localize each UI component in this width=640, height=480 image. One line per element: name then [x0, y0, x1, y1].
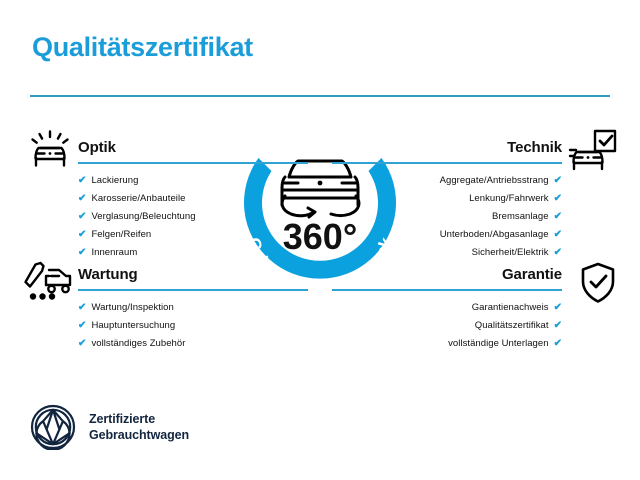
checklist-item: Bremsanlage✔: [332, 208, 562, 226]
car-checkbox-icon: [566, 128, 618, 174]
check-icon: ✔: [554, 247, 562, 258]
checklist-item-label: Lackierung: [91, 175, 138, 186]
checklist-item-label: Karosserie/Anbauteile: [91, 193, 185, 204]
check-icon: ✔: [78, 175, 86, 186]
checklist-item-label: Hauptuntersuchung: [91, 320, 175, 331]
check-icon: ✔: [78, 302, 86, 313]
checklist-item-label: Innenraum: [91, 247, 137, 258]
checklist-item: ✔Verglasung/Beleuchtung: [78, 208, 308, 226]
section-heading-garantie: Garantie: [332, 267, 562, 284]
section-heading-wartung: Wartung: [78, 267, 308, 284]
title-divider: [30, 95, 610, 97]
checklist-optik: ✔Lackierung✔Karosserie/Anbauteile✔Vergla…: [78, 172, 308, 262]
section-divider-wartung: [78, 289, 308, 291]
checklist-item-label: Verglasung/Beleuchtung: [91, 211, 195, 222]
checklist-item: ✔Felgen/Reifen: [78, 226, 308, 244]
checklist-item: vollständige Unterlagen✔: [332, 335, 562, 353]
checklist-item-label: Bremsanlage: [492, 211, 549, 222]
checklist-garantie: Garantienachweis✔Qualitätszertifikat✔vol…: [332, 299, 562, 353]
checklist-item: ✔Lackierung: [78, 172, 308, 190]
checklist-item-label: Wartung/Inspektion: [91, 302, 173, 313]
check-icon: ✔: [554, 320, 562, 331]
section-wartung: Wartung ✔Wartung/Inspektion✔Hauptuntersu…: [78, 267, 308, 353]
section-heading-technik: Technik: [332, 140, 562, 157]
checklist-item-label: vollständiges Zubehör: [91, 338, 185, 349]
checklist-wartung: ✔Wartung/Inspektion✔Hauptuntersuchung✔vo…: [78, 299, 308, 353]
footer-line-2: Gebrauchtwagen: [89, 427, 189, 443]
footer-line-1: Zertifizierte: [89, 411, 189, 427]
section-optik: Optik ✔Lackierung✔Karosserie/Anbauteile✔…: [78, 140, 308, 262]
check-icon: ✔: [78, 229, 86, 240]
checklist-item-label: Lenkung/Fahrwerk: [469, 193, 548, 204]
checklist-item-label: Sicherheit/Elektrik: [472, 247, 549, 258]
check-icon: ✔: [554, 175, 562, 186]
checklist-item-label: Garantienachweis: [472, 302, 549, 313]
checklist-item: Lenkung/Fahrwerk✔: [332, 190, 562, 208]
checklist-item: Sicherheit/Elektrik✔: [332, 244, 562, 262]
check-icon: ✔: [554, 211, 562, 222]
section-divider-optik: [78, 162, 308, 164]
check-icon: ✔: [78, 247, 86, 258]
check-icon: ✔: [78, 320, 86, 331]
shield-check-icon: [572, 260, 624, 306]
checklist-item-label: Qualitätszertifikat: [475, 320, 549, 331]
check-icon: ✔: [554, 302, 562, 313]
check-icon: ✔: [554, 338, 562, 349]
car-wash-icon: [24, 128, 76, 174]
section-garantie: Garantie Garantienachweis✔Qualitätszerti…: [332, 267, 562, 353]
footer-brand: Zertifizierte Gebrauchtwagen: [30, 404, 189, 450]
checklist-item-label: Felgen/Reifen: [91, 229, 151, 240]
checklist-item-label: Unterboden/Abgasanlage: [440, 229, 549, 240]
footer-brand-text: Zertifizierte Gebrauchtwagen: [89, 411, 189, 443]
checklist-item: Unterboden/Abgasanlage✔: [332, 226, 562, 244]
check-icon: ✔: [554, 193, 562, 204]
section-divider-technik: [332, 162, 562, 164]
checklist-item-label: vollständige Unterlagen: [448, 338, 548, 349]
check-icon: ✔: [78, 211, 86, 222]
section-divider-garantie: [332, 289, 562, 291]
checklist-item: Qualitätszertifikat✔: [332, 317, 562, 335]
section-technik: Technik Aggregate/Antriebsstrang✔Lenkung…: [332, 140, 562, 262]
page-title: Qualitätszertifikat: [32, 34, 253, 61]
car-service-tool-icon: [24, 258, 76, 304]
checklist-item: ✔vollständiges Zubehör: [78, 335, 308, 353]
checklist-item: Aggregate/Antriebsstrang✔: [332, 172, 562, 190]
checklist-technik: Aggregate/Antriebsstrang✔Lenkung/Fahrwer…: [332, 172, 562, 262]
check-icon: ✔: [78, 338, 86, 349]
vw-logo-icon: [30, 404, 76, 450]
check-icon: ✔: [78, 193, 86, 204]
checklist-item: ✔Innenraum: [78, 244, 308, 262]
checklist-item: ✔Hauptuntersuchung: [78, 317, 308, 335]
checklist-item: ✔Wartung/Inspektion: [78, 299, 308, 317]
section-heading-optik: Optik: [78, 140, 308, 157]
checklist-item-label: Aggregate/Antriebsstrang: [440, 175, 549, 186]
checklist-item: Garantienachweis✔: [332, 299, 562, 317]
check-icon: ✔: [554, 229, 562, 240]
checklist-item: ✔Karosserie/Anbauteile: [78, 190, 308, 208]
